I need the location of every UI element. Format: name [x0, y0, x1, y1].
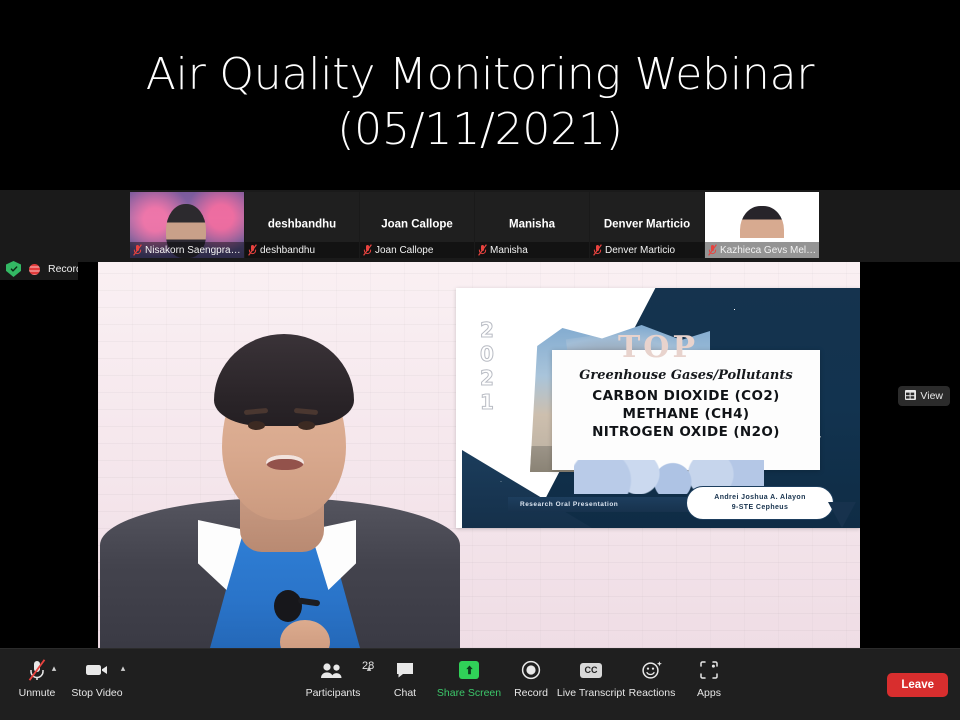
record-circle-icon: [521, 657, 541, 683]
chat-button[interactable]: Chat: [368, 657, 442, 699]
slide-presenter-pill: Andrei Joshua A. Alayon 9-STE Cepheus: [686, 486, 834, 520]
participant-display-name: Denver Marticio: [590, 218, 704, 230]
participants-icon: 28: [320, 657, 346, 683]
slide-pollutant-list: CARBON DIOXIDE (CO2) METHANE (CH4) NITRO…: [592, 388, 780, 441]
slide-pollutant-item: METHANE (CH4): [592, 406, 780, 424]
record-label: Record: [514, 687, 548, 699]
green-shield-icon[interactable]: [6, 261, 21, 277]
participant-name-label: deshbandhu: [245, 242, 359, 258]
presenter-video-feed[interactable]: 2 0 2 1 TOP Greenhouse Gases/Pollutants …: [98, 262, 860, 648]
participant-tile-deshbandhu[interactable]: deshbandhu deshbandhu: [245, 192, 359, 258]
presenter-eye-left: [248, 421, 265, 430]
presenter-figure: [114, 262, 444, 648]
audio-options-caret-icon[interactable]: ▴: [48, 663, 60, 674]
presentation-slide: 2 0 2 1 TOP Greenhouse Gases/Pollutants …: [456, 288, 860, 528]
view-button[interactable]: View: [898, 386, 950, 406]
slide-year-digit: 2: [480, 368, 494, 388]
record-dot-icon: [29, 264, 40, 275]
slide-presenter-section: 9-STE Cepheus: [732, 503, 789, 514]
participant-tile-denver-marticio[interactable]: Denver Marticio Denver Marticio: [590, 192, 704, 258]
apps-label: Apps: [697, 687, 721, 699]
grid-view-icon: [905, 390, 916, 403]
meeting-toolbar: Unmute ▴ Stop Video ▴ 28 Participants ▴ …: [0, 648, 960, 720]
reactions-label: Reactions: [629, 687, 676, 699]
slide-presenter-name: Andrei Joshua A. Alayon: [714, 493, 806, 504]
webinar-title-banner: Air Quality Monitoring Webinar (05/11/20…: [0, 0, 960, 190]
participant-tile-joan-callope[interactable]: Joan Callope Joan Callope: [360, 192, 474, 258]
slide-pollutant-item: CARBON DIOXIDE (CO2): [592, 388, 780, 406]
share-screen-label: Share Screen: [437, 687, 501, 699]
participant-display-name: Joan Callope: [360, 218, 474, 230]
participant-name-label: Joan Callope: [360, 242, 474, 258]
presenter-mouth: [266, 455, 304, 470]
participants-button[interactable]: 28 Participants: [296, 657, 370, 699]
participant-name-label: Denver Marticio: [590, 242, 704, 258]
closed-caption-icon: CC: [580, 657, 602, 683]
participant-label-text: deshbandhu: [260, 245, 315, 256]
participant-filmstrip: Nisakorn Saengprach... deshbandhu deshba…: [0, 190, 960, 262]
microphone-muted-icon: [708, 244, 717, 256]
slide-content-card: Greenhouse Gases/Pollutants CARBON DIOXI…: [552, 350, 820, 470]
video-camera-icon: [85, 657, 109, 683]
chat-bubble-icon: [395, 657, 415, 683]
participant-name-label: Kazhieca Gevs Meleg...: [705, 242, 819, 258]
participant-label-text: Manisha: [490, 245, 528, 256]
share-screen-icon: [459, 657, 479, 683]
slide-subheading: Greenhouse Gases/Pollutants: [579, 368, 792, 383]
video-options-caret-icon[interactable]: ▴: [117, 663, 129, 674]
microphone-muted-icon: [363, 244, 372, 256]
participant-display-name: deshbandhu: [245, 218, 359, 230]
participant-label-text: Denver Marticio: [605, 245, 675, 256]
microphone-muted-icon: [248, 244, 257, 256]
shared-screen-stage: 2 0 2 1 TOP Greenhouse Gases/Pollutants …: [78, 262, 882, 648]
apps-button[interactable]: Apps: [672, 657, 746, 699]
unmute-label: Unmute: [19, 687, 56, 699]
participants-label: Participants: [306, 687, 361, 699]
participant-tile-manisha[interactable]: Manisha Manisha: [475, 192, 589, 258]
participant-display-name: Manisha: [475, 218, 589, 230]
page-title-line-1: Air Quality Monitoring Webinar: [146, 47, 814, 102]
slide-heading-top: TOP: [456, 330, 860, 365]
view-button-label: View: [920, 390, 943, 402]
presenter-eye-right: [298, 421, 315, 430]
slide-pollutant-item: NITROGEN OXIDE (N2O): [592, 424, 780, 442]
participant-tile-nisakorn[interactable]: Nisakorn Saengprach...: [130, 192, 244, 258]
participant-label-text: Kazhieca Gevs Meleg...: [720, 245, 819, 256]
chat-label: Chat: [394, 687, 416, 699]
emoji-reactions-icon: [641, 657, 663, 683]
apps-icon: [699, 657, 719, 683]
page-title-line-2: (05/11/2021): [337, 102, 623, 157]
zoom-meeting-window: Recording: [0, 262, 882, 648]
stop-video-label: Stop Video: [71, 687, 122, 699]
microphone-muted-icon: [133, 244, 142, 256]
participant-tile-kazhieca-active-speaker[interactable]: Kazhieca Gevs Meleg...: [705, 192, 819, 258]
microphone-muted-icon: [478, 244, 487, 256]
presenter-hair: [214, 334, 354, 426]
slide-footer-label: Research Oral Presentation: [520, 501, 618, 508]
filmstrip-tiles: Nisakorn Saengprach... deshbandhu deshba…: [130, 192, 820, 260]
participant-label-text: Nisakorn Saengprach...: [145, 245, 244, 256]
microphone-muted-icon: [593, 244, 602, 256]
handheld-microphone: [274, 590, 302, 622]
microphone-muted-icon: [27, 657, 47, 683]
leave-button[interactable]: Leave: [887, 673, 948, 697]
participant-name-label: Nisakorn Saengprach...: [130, 242, 244, 258]
participant-name-label: Manisha: [475, 242, 589, 258]
participant-label-text: Joan Callope: [375, 245, 433, 256]
slide-year-digit: 1: [480, 392, 494, 412]
webinar-screenshot: Air Quality Monitoring Webinar (05/11/20…: [0, 0, 960, 720]
